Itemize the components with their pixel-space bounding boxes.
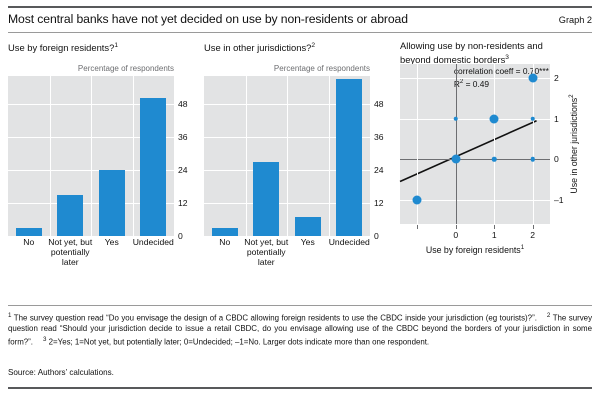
scatter-y-axis-footnote-marker: 2 bbox=[568, 94, 575, 97]
x-axis-category-label: Undecided bbox=[322, 238, 378, 248]
scatter-y-axis-title-inner: Use in other jurisdictions2 bbox=[568, 64, 579, 224]
scatter-x-axis-footnote-marker: 1 bbox=[521, 244, 524, 251]
gridline-vertical bbox=[287, 76, 288, 236]
bar bbox=[140, 98, 166, 236]
panel-a-title: Use by foreign residents?1 bbox=[8, 40, 200, 64]
panel-a-title-footnote-marker: 1 bbox=[114, 42, 118, 49]
panel-a-plot-area bbox=[8, 76, 174, 236]
scatter-point bbox=[530, 116, 535, 121]
bar bbox=[57, 195, 83, 236]
page-title: Most central banks have not yet decided … bbox=[8, 12, 408, 26]
footnote-1-marker: 1 bbox=[8, 312, 11, 319]
bar bbox=[336, 79, 362, 236]
y-axis-tick-label: –1 bbox=[554, 195, 564, 205]
x-axis-tick-label: 1 bbox=[492, 230, 497, 240]
scatter-point bbox=[530, 157, 535, 162]
y-axis-tick-label: 48 bbox=[374, 99, 384, 109]
panel-allowing-use-scatter: Allowing use by non-residents and beyond… bbox=[400, 40, 592, 298]
y-axis-tick-label: 1 bbox=[554, 114, 559, 124]
title-row: Most central banks have not yet decided … bbox=[8, 12, 592, 26]
panel-c-title-footnote-marker: 3 bbox=[505, 54, 509, 61]
axis-line-vertical bbox=[456, 64, 457, 224]
footnote-divider bbox=[8, 305, 592, 306]
gridline-vertical bbox=[50, 76, 51, 236]
panel-c-chart: correlation coeff = 0.70*** R2 = 0.49 –1… bbox=[400, 64, 592, 242]
panel-use-by-foreign-residents: Use by foreign residents?1 Percentage of… bbox=[8, 40, 200, 298]
panel-a-chart: 012243648 NoNot yet, but potentially lat… bbox=[8, 76, 200, 242]
gridline-vertical bbox=[329, 76, 330, 236]
gridline-vertical bbox=[494, 64, 495, 224]
panel-b-title: Use in other jurisdictions?2 bbox=[204, 40, 396, 64]
y-axis-tick-label: 12 bbox=[374, 198, 384, 208]
bar bbox=[253, 162, 279, 236]
panel-a-subtitle: Percentage of respondents bbox=[8, 64, 200, 76]
bar bbox=[16, 228, 42, 236]
gridline-vertical bbox=[533, 64, 534, 224]
x-axis-tick-mark bbox=[494, 225, 495, 229]
footnotes: 1 The survey question read “Do you envis… bbox=[8, 311, 592, 348]
bar bbox=[212, 228, 238, 236]
panel-use-in-other-jurisdictions: Use in other jurisdictions?2 Percentage … bbox=[204, 40, 396, 298]
y-axis-tick-label: 48 bbox=[178, 99, 188, 109]
panel-b-x-axis: NoNot yet, but potentially laterYesUndec… bbox=[204, 238, 370, 286]
y-axis-tick-label: 0 bbox=[554, 154, 559, 164]
y-axis-tick-label: 2 bbox=[554, 73, 559, 83]
panel-c-title: Allowing use by non-residents and beyond… bbox=[400, 40, 592, 64]
gridline-vertical bbox=[133, 76, 134, 236]
top-rule bbox=[8, 6, 592, 8]
gridline-vertical bbox=[91, 76, 92, 236]
panel-b-chart: 012243648 NoNot yet, but potentially lat… bbox=[204, 76, 396, 242]
x-axis-tick-label: 0 bbox=[453, 230, 458, 240]
panel-c-title-line2: beyond domestic borders bbox=[400, 54, 505, 65]
y-axis-tick-label: 12 bbox=[178, 198, 188, 208]
r-squared-value: = 0.49 bbox=[463, 78, 489, 88]
gridline-horizontal bbox=[400, 119, 550, 120]
panel-a-title-text: Use by foreign residents? bbox=[8, 42, 114, 53]
footnote-1-text: The survey question read “Do you envisag… bbox=[14, 314, 537, 323]
panel-c-title-line1: Allowing use by non-residents and bbox=[400, 40, 543, 51]
scatter-y-axis-title: Use in other jurisdictions2 bbox=[568, 0, 582, 64]
panel-b-plot-area bbox=[204, 76, 370, 236]
panel-b-subtitle: Percentage of respondents bbox=[204, 64, 396, 76]
bottom-rule bbox=[8, 387, 592, 389]
scatter-x-axis-title: Use by foreign residents1 bbox=[400, 244, 550, 255]
x-axis-category-label: Undecided bbox=[126, 238, 182, 248]
x-axis-tick-mark bbox=[533, 225, 534, 229]
x-axis-tick-label: 2 bbox=[530, 230, 535, 240]
scatter-point bbox=[454, 116, 459, 121]
footnote-2-marker: 2 bbox=[547, 312, 550, 319]
gridline-horizontal bbox=[400, 200, 550, 201]
bar bbox=[295, 217, 321, 236]
panels-row: Use by foreign residents?1 Percentage of… bbox=[8, 40, 592, 298]
scatter-point bbox=[492, 157, 497, 162]
scatter-x-axis-title-text: Use by foreign residents bbox=[426, 245, 521, 255]
scatter-point bbox=[451, 155, 460, 164]
x-axis-tick-mark bbox=[417, 225, 418, 229]
panel-b-title-footnote-marker: 2 bbox=[311, 42, 315, 49]
source-note: Source: Authors’ calculations. bbox=[8, 368, 114, 377]
panel-c-plot-area: correlation coeff = 0.70*** R2 = 0.49 bbox=[400, 64, 550, 224]
scatter-point bbox=[413, 195, 422, 204]
gridline-vertical bbox=[246, 76, 247, 236]
footnote-3-text: 2=Yes; 1=Not yet, but potentially later;… bbox=[49, 337, 429, 346]
title-divider bbox=[8, 32, 592, 33]
scatter-point bbox=[528, 74, 537, 83]
y-axis-tick-label: 36 bbox=[374, 132, 384, 142]
scatter-point bbox=[490, 114, 499, 123]
footnote-3-marker: 3 bbox=[43, 336, 46, 343]
bar bbox=[99, 170, 125, 236]
panel-b-title-text: Use in other jurisdictions? bbox=[204, 42, 311, 53]
y-axis-tick-label: 24 bbox=[178, 165, 188, 175]
axis-line-horizontal bbox=[400, 159, 550, 160]
x-axis-tick-mark bbox=[456, 225, 457, 229]
y-axis-tick-label: 24 bbox=[374, 165, 384, 175]
panel-a-x-axis: NoNot yet, but potentially laterYesUndec… bbox=[8, 238, 174, 286]
y-axis-tick-label: 36 bbox=[178, 132, 188, 142]
scatter-y-axis-title-text: Use in other jurisdictions bbox=[569, 98, 579, 194]
graph-container: Most central banks have not yet decided … bbox=[0, 0, 600, 400]
